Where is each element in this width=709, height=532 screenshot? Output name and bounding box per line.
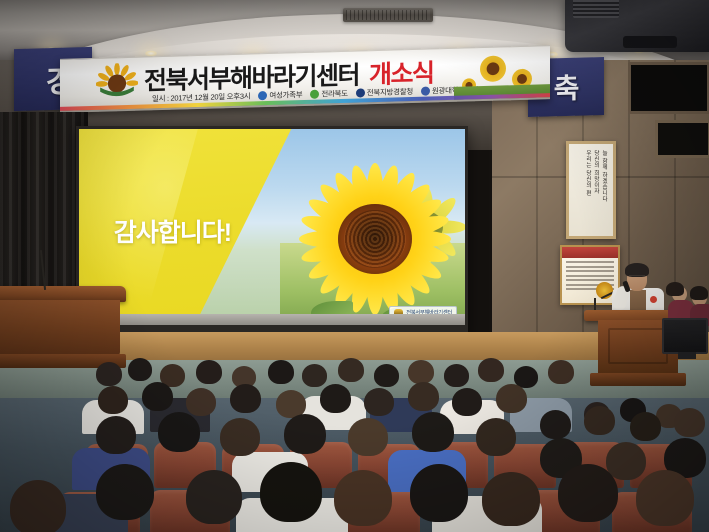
projection-screen: 감사합니다! 전북서부해바라기센터 xyxy=(79,129,465,325)
audience-head xyxy=(374,364,399,387)
audience-head xyxy=(348,418,388,456)
audience-head xyxy=(10,480,66,532)
audience-head xyxy=(186,388,216,416)
staff-hair-2 xyxy=(690,286,708,300)
ceiling-vent xyxy=(343,8,433,22)
audience-head xyxy=(186,470,242,524)
head-table-body xyxy=(0,300,120,356)
audience-head xyxy=(320,384,351,413)
audience-head xyxy=(478,358,504,382)
event-banner: 경 축 xyxy=(0,44,640,120)
audience-head xyxy=(260,462,322,522)
audience-head xyxy=(558,464,618,522)
audience-head xyxy=(584,406,615,435)
slide-sunflower-main xyxy=(287,156,462,321)
wall-window-lower xyxy=(655,120,709,158)
framed-certificate xyxy=(560,245,620,305)
wall-window-upper xyxy=(628,62,709,114)
audience-head xyxy=(606,442,646,480)
audience-head xyxy=(158,412,200,452)
audience-head xyxy=(338,358,364,382)
audience-head xyxy=(674,408,705,437)
audience-head xyxy=(196,360,222,384)
audience-head xyxy=(142,382,173,411)
audience-head xyxy=(128,358,152,381)
audience-head xyxy=(496,384,527,413)
audience-head xyxy=(548,360,574,384)
sunflower-logo-icon xyxy=(96,63,138,106)
audience-head xyxy=(476,418,516,456)
scroll-column-1: 늘 함께 하겠습니다 xyxy=(601,150,607,230)
audience-head xyxy=(96,464,154,520)
banner-main-board: 전북서부해바라기센터개소식 일시 : 2017년 12월 20일 오후3시 여성… xyxy=(60,45,550,113)
audience-head xyxy=(96,362,122,386)
calligraphy-scroll: 늘 함께 하겠습니다 당신의 희망이자 우리는 당신의 편 xyxy=(566,141,616,239)
sunflower-center-disc xyxy=(338,204,412,274)
audience-head xyxy=(364,388,394,416)
audience-head xyxy=(302,364,327,387)
audience-head xyxy=(284,414,326,454)
audience-head xyxy=(408,382,439,411)
audience-head xyxy=(410,464,468,522)
audience-head xyxy=(540,410,571,439)
audience-head xyxy=(412,412,454,452)
audience-head xyxy=(230,384,261,413)
audience-head xyxy=(268,360,294,384)
projection-screen-frame: 감사합니다! 전북서부해바라기센터 xyxy=(76,126,468,336)
audience-head xyxy=(482,472,540,526)
slide-headline: 감사합니다! xyxy=(114,213,231,249)
screen-lower-band xyxy=(79,314,465,325)
audience-head xyxy=(408,360,434,384)
audience-head xyxy=(452,388,482,416)
banner-right-panel-text: 축 xyxy=(554,67,579,108)
audience-head xyxy=(636,470,694,526)
staff-hair-1 xyxy=(666,282,684,296)
audience-head xyxy=(220,418,260,456)
speaker-lapel-flower xyxy=(650,296,657,303)
audience-head xyxy=(630,412,661,441)
banner-org-2-label: 전라북도 xyxy=(321,88,347,100)
audience-head xyxy=(334,470,392,526)
speaker-glasses-icon xyxy=(629,275,645,279)
audience-head xyxy=(444,364,469,387)
scroll-column-3: 우리는 당신의 편 xyxy=(585,150,591,230)
audience-head xyxy=(96,416,136,454)
certificate-header-band xyxy=(562,247,618,258)
scroll-column-2: 당신의 희망이자 xyxy=(593,150,599,230)
computer-monitor xyxy=(662,318,708,354)
audience-head xyxy=(98,386,128,414)
audience xyxy=(0,352,709,532)
auditorium-photo: 늘 함께 하겠습니다 당신의 희망이자 우리는 당신의 편 경 축 xyxy=(0,0,709,532)
